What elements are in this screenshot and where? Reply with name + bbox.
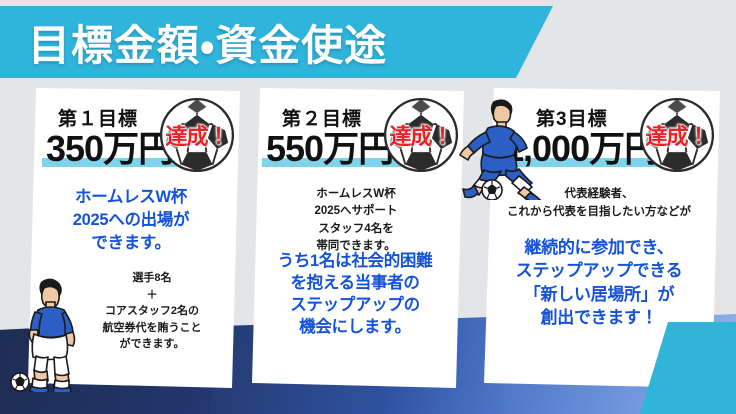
goal-amount-1: 350万円 <box>46 130 173 168</box>
goal-amount-2: 550万円 <box>266 130 393 168</box>
goal-black-text-2: ホームレスW杯2025へサポートスタッフ4名を帯同できます。 <box>260 186 452 256</box>
stamp-label-3: 達成！ <box>638 96 716 174</box>
achievement-stamp-3: 達成！ <box>638 96 716 174</box>
soccer-ball-icon <box>11 373 29 391</box>
goal-blue-text-3: 継続的に参加でき、ステップアップできる「新しい居場所」が創出できます！ <box>488 236 710 330</box>
goal-amount-1-text: 350万円 <box>46 128 173 169</box>
infographic-stage: 目標金額・資金使途 第１目標 350万円 ホームレスW杯2025への出場ができま… <box>0 0 736 414</box>
goal-label-2: 第２目標 <box>282 104 362 131</box>
soccer-ball-icon <box>482 180 502 200</box>
goal-blue-text-1: ホームレスW杯2025への出場ができます。 <box>34 186 228 255</box>
goal-black-text-1: 選手8名＋コアスタッフ2名の航空券代を賄うことができます。 <box>76 270 228 353</box>
page-title: 目標金額・資金使途 <box>28 12 387 73</box>
achievement-stamp-2: 達成！ <box>382 96 460 174</box>
soccer-player-standing-icon <box>8 272 92 392</box>
stamp-label-1: 達成！ <box>158 96 236 174</box>
stamp-label-2: 達成！ <box>382 96 460 174</box>
goal-blue-text-2: うち1名は社会的困難を抱える当事者のステップアップの機会にします。 <box>258 250 452 338</box>
goal-amount-2-text: 550万円 <box>266 128 393 169</box>
achievement-stamp-1: 達成！ <box>158 96 236 174</box>
goal-label-1: 第１目標 <box>58 104 138 131</box>
soccer-player-kicking-icon <box>450 96 554 200</box>
